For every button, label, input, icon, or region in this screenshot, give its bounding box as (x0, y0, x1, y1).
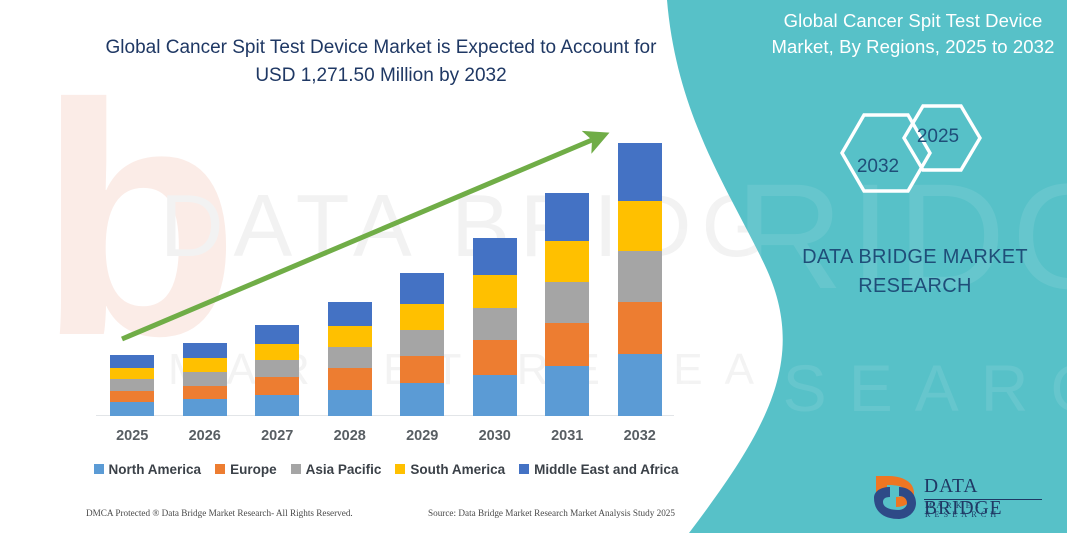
legend-swatch-icon (395, 464, 405, 474)
legend-item-asia-pacific[interactable]: Asia Pacific (291, 462, 382, 477)
bar-2032[interactable] (618, 143, 662, 416)
bar-segment-2030-south-america (473, 275, 517, 308)
legend-label: Europe (230, 462, 277, 477)
bar-segment-2027-asia-pacific (255, 360, 299, 377)
legend-label: South America (410, 462, 505, 477)
brand-line-2: RESEARCH (858, 275, 972, 297)
chart-title: Global Cancer Spit Test Device Market is… (86, 34, 676, 90)
bar-segment-2028-europe (328, 368, 372, 390)
x-axis-label-2026: 2026 (175, 428, 235, 444)
bar-segment-2025-asia-pacific (110, 379, 154, 391)
bar-segment-2032-middle-east-and-africa (618, 143, 662, 201)
bar-segment-2026-south-america (183, 358, 227, 372)
bar-segment-2030-europe (473, 340, 517, 375)
bar-segment-2030-north-america (473, 375, 517, 416)
legend-swatch-icon (291, 464, 301, 474)
bar-segment-2027-europe (255, 377, 299, 395)
bar-segment-2027-south-america (255, 344, 299, 361)
legend-item-south-america[interactable]: South America (395, 462, 505, 477)
footer-source: Source: Data Bridge Market Research Mark… (428, 508, 675, 518)
bar-segment-2028-middle-east-and-africa (328, 302, 372, 326)
x-axis-label-2029: 2029 (392, 428, 452, 444)
logo-divider (924, 499, 1042, 500)
legend-label: Middle East and Africa (534, 462, 678, 477)
bar-segment-2025-south-america (110, 368, 154, 380)
legend-item-middle-east-and-africa[interactable]: Middle East and Africa (519, 462, 678, 477)
x-axis-label-2027: 2027 (247, 428, 307, 444)
bar-2030[interactable] (473, 238, 517, 416)
bar-2026[interactable] (183, 343, 227, 416)
bar-segment-2028-north-america (328, 390, 372, 416)
bar-segment-2026-asia-pacific (183, 372, 227, 386)
footer-copyright: DMCA Protected ® Data Bridge Market Rese… (86, 508, 353, 518)
bar-segment-2026-middle-east-and-africa (183, 343, 227, 359)
bar-segment-2026-europe (183, 386, 227, 400)
bar-segment-2032-south-america (618, 201, 662, 251)
bar-segment-2031-asia-pacific (545, 282, 589, 323)
x-axis-labels: 20252026202720282029203020312032 (96, 428, 676, 450)
bar-segment-2028-south-america (328, 326, 372, 347)
bar-segment-2025-middle-east-and-africa (110, 355, 154, 368)
bar-segment-2029-south-america (400, 304, 444, 330)
x-axis-label-2031: 2031 (537, 428, 597, 444)
bar-plot-area (96, 120, 676, 416)
x-axis-label-2032: 2032 (610, 428, 670, 444)
legend-item-europe[interactable]: Europe (215, 462, 277, 477)
chart-legend: North AmericaEuropeAsia PacificSouth Ame… (96, 459, 676, 479)
brand-line-1: DATA BRIDGE MARKET (802, 246, 1028, 268)
bar-2025[interactable] (110, 355, 154, 416)
bar-segment-2025-north-america (110, 402, 154, 416)
bar-segment-2026-north-america (183, 399, 227, 416)
bar-2028[interactable] (328, 302, 372, 416)
bar-segment-2028-asia-pacific (328, 347, 372, 368)
bar-segment-2032-north-america (618, 354, 662, 416)
logo-secondary-text: MARKET RESEARCH (925, 501, 1052, 519)
bar-segment-2029-europe (400, 356, 444, 383)
bar-segment-2025-europe (110, 391, 154, 403)
infographic-root: b DATA BRIDGE MARKET RESEARCH BRIDGE RES… (0, 0, 1067, 533)
bar-segment-2029-middle-east-and-africa (400, 273, 444, 303)
bar-2031[interactable] (545, 193, 589, 416)
legend-label: North America (109, 462, 202, 477)
panel-title: Global Cancer Spit Test Device Market, B… (768, 8, 1058, 60)
bar-segment-2029-asia-pacific (400, 330, 444, 356)
x-axis-label-2028: 2028 (320, 428, 380, 444)
bar-segment-2030-asia-pacific (473, 308, 517, 341)
legend-label: Asia Pacific (306, 462, 382, 477)
data-bridge-logo: DATA BRIDGE MARKET RESEARCH (872, 474, 1052, 524)
x-axis-label-2025: 2025 (102, 428, 162, 444)
bar-segment-2032-asia-pacific (618, 251, 662, 301)
legend-item-north-america[interactable]: North America (94, 462, 202, 477)
hexagon-badges: 2025 2032 (828, 98, 988, 208)
bar-segment-2027-north-america (255, 395, 299, 416)
bar-segment-2030-middle-east-and-africa (473, 238, 517, 276)
hexagon-2032-label: 2032 (850, 156, 906, 178)
legend-swatch-icon (519, 464, 529, 474)
bar-segment-2031-europe (545, 323, 589, 366)
bar-2027[interactable] (255, 325, 299, 416)
bar-segment-2031-north-america (545, 366, 589, 416)
bar-segment-2031-south-america (545, 241, 589, 282)
bar-segment-2032-europe (618, 302, 662, 355)
legend-swatch-icon (215, 464, 225, 474)
bar-segment-2029-north-america (400, 383, 444, 416)
logo-b-mark (872, 474, 920, 520)
x-axis-label-2030: 2030 (465, 428, 525, 444)
bar-segment-2031-middle-east-and-africa (545, 193, 589, 240)
legend-swatch-icon (94, 464, 104, 474)
bar-segment-2027-middle-east-and-africa (255, 325, 299, 344)
hexagon-2025-label: 2025 (910, 126, 966, 148)
bar-2029[interactable] (400, 273, 444, 416)
brand-name: DATA BRIDGE MARKET RESEARCH (790, 243, 1040, 301)
